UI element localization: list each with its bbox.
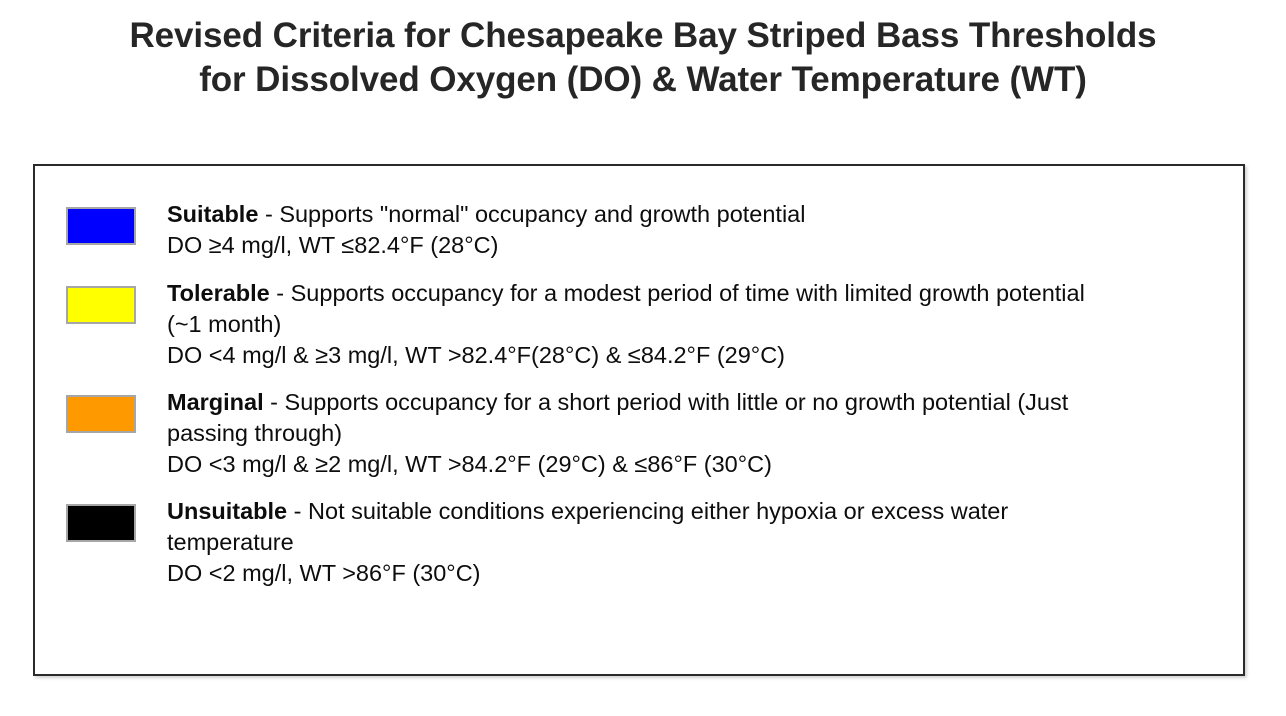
- legend-entry-description: Supports occupancy for a short period wi…: [285, 389, 1069, 415]
- legend-entry-label: Marginal: [167, 389, 264, 415]
- legend-entry-label: Unsuitable: [167, 498, 287, 524]
- legend-entry-separator: -: [264, 389, 285, 415]
- legend-entry-label: Tolerable: [167, 280, 270, 306]
- legend-entry-description: Not suitable conditions experiencing eit…: [308, 498, 1008, 524]
- legend-entry-label: Suitable: [167, 201, 258, 227]
- legend-entry-description: Supports occupancy for a modest period o…: [291, 280, 1085, 306]
- color-swatch-orange: [66, 395, 136, 433]
- color-swatch-yellow: [66, 286, 136, 324]
- legend-entry-criteria: DO <4 mg/l & ≥3 mg/l, WT >82.4°F(28°C) &…: [167, 340, 1225, 371]
- legend-list: Suitable - Supports "normal" occupancy a…: [33, 199, 1233, 603]
- legend-entry-text: Tolerable - Supports occupancy for a mod…: [167, 278, 1233, 371]
- legend-entry-tolerable: Tolerable - Supports occupancy for a mod…: [33, 278, 1233, 371]
- page-title-line-2: for Dissolved Oxygen (DO) & Water Temper…: [0, 58, 1286, 102]
- legend-entry-headline: Suitable - Supports "normal" occupancy a…: [167, 199, 1225, 230]
- legend-entry-criteria: DO <3 mg/l & ≥2 mg/l, WT >84.2°F (29°C) …: [167, 449, 1225, 480]
- legend-entry-separator: -: [287, 498, 308, 524]
- legend-entry-marginal: Marginal - Supports occupancy for a shor…: [33, 387, 1233, 480]
- legend-entry-headline: Marginal - Supports occupancy for a shor…: [167, 387, 1225, 418]
- legend-entry-unsuitable: Unsuitable - Not suitable conditions exp…: [33, 496, 1233, 589]
- legend-entry-criteria: DO ≥4 mg/l, WT ≤82.4°F (28°C): [167, 230, 1225, 261]
- slide-canvas: Revised Criteria for Chesapeake Bay Stri…: [0, 0, 1286, 716]
- legend-entry-text: Marginal - Supports occupancy for a shor…: [167, 387, 1233, 480]
- legend-entry-description-cont: (~1 month): [167, 309, 1225, 340]
- legend-entry-text: Unsuitable - Not suitable conditions exp…: [167, 496, 1233, 589]
- color-swatch-black: [66, 504, 136, 542]
- legend-entry-headline: Tolerable - Supports occupancy for a mod…: [167, 278, 1225, 309]
- legend-entry-text: Suitable - Supports "normal" occupancy a…: [167, 199, 1233, 261]
- legend-entry-description-cont: passing through): [167, 418, 1225, 449]
- page-title: Revised Criteria for Chesapeake Bay Stri…: [0, 14, 1286, 102]
- legend-entry-criteria: DO <2 mg/l, WT >86°F (30°C): [167, 558, 1225, 589]
- legend-entry-headline: Unsuitable - Not suitable conditions exp…: [167, 496, 1225, 527]
- page-title-line-1: Revised Criteria for Chesapeake Bay Stri…: [0, 14, 1286, 58]
- legend-entry-description-cont: temperature: [167, 527, 1225, 558]
- legend-entry-description: Supports "normal" occupancy and growth p…: [279, 201, 805, 227]
- legend-entry-separator: -: [258, 201, 279, 227]
- legend-entry-separator: -: [270, 280, 291, 306]
- legend-entry-suitable: Suitable - Supports "normal" occupancy a…: [33, 199, 1233, 261]
- color-swatch-blue: [66, 207, 136, 245]
